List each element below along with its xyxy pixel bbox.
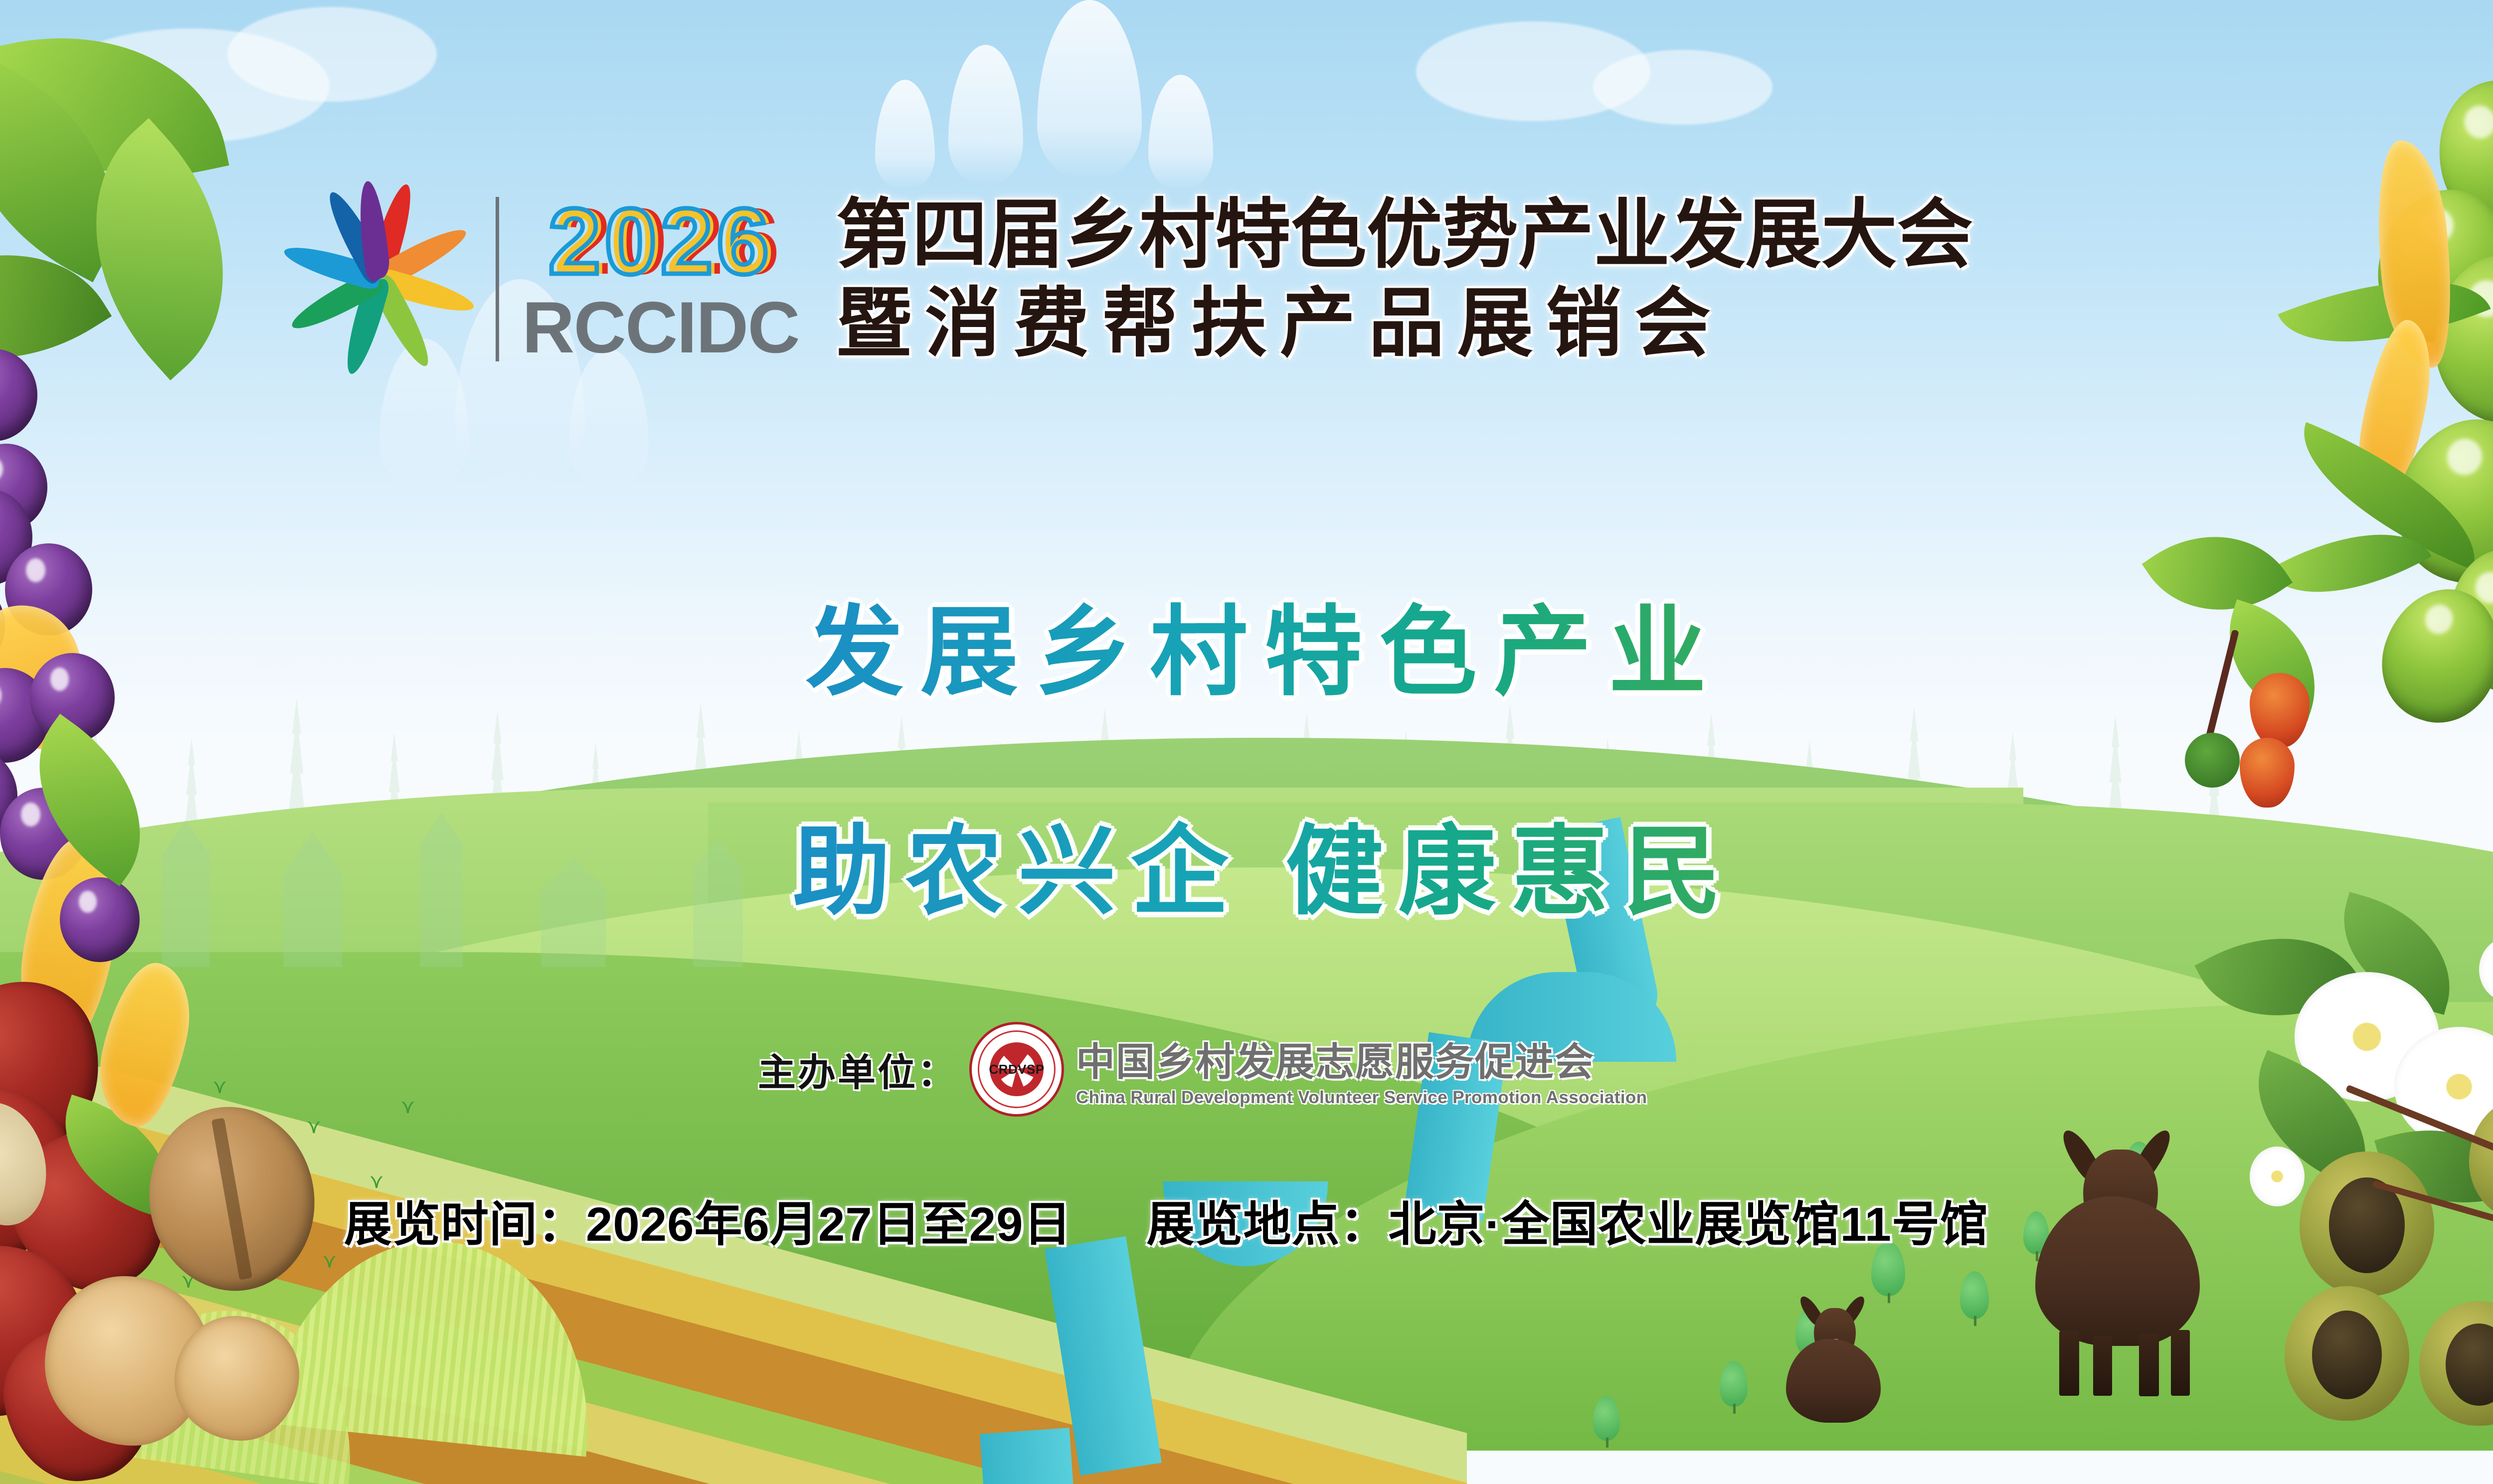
organizer-block: 主办单位： CRDVSP 中国乡村发展志愿服务促进会 China Rural D… xyxy=(758,1022,1647,1117)
title-line-1: 第四届乡村特色优势产业发展大会 xyxy=(836,194,1973,276)
walnut-icon xyxy=(135,1094,329,1304)
organizer-name-en: China Rural Development Volunteer Servic… xyxy=(1076,1088,1647,1108)
organizer-name-cn: 中国乡村发展志愿服务促进会 xyxy=(1076,1031,1647,1087)
oil-seed-pod-icon xyxy=(2300,1152,2434,1296)
banner-header: 2026 RCCIDC 第四届乡村特色优势产业发展大会 暨消费帮扶产品展销会 xyxy=(0,179,2493,379)
circular-red-seal-icon: CRDVSP xyxy=(969,1022,1064,1117)
organizer-names: 中国乡村发展志愿服务促进会 China Rural Development Vo… xyxy=(1076,1031,1647,1108)
seal-abbr-text: CRDVSP xyxy=(989,1062,1044,1077)
slogan-line-1: 发展乡村特色产业 xyxy=(0,573,2493,714)
yak-icon xyxy=(1783,1291,1898,1436)
oil-seed-pod-icon xyxy=(2285,1286,2409,1421)
title-line-2: 暨消费帮扶产品展销会 xyxy=(836,283,1973,364)
event-info: 展览时间：2026年6月27日至29日 展览地点：北京·全国农业展览馆11号馆 xyxy=(344,1185,1988,1255)
camellia-bud-icon xyxy=(2250,1147,2305,1206)
slogan-line-2: 助农兴企 健康惠民 xyxy=(0,793,2493,934)
jujube-walnut-decoration xyxy=(0,967,359,1484)
event-venue: 展览地点：北京·全国农业展览馆11号馆 xyxy=(1147,1185,1988,1255)
title-block: 第四届乡村特色优势产业发展大会 暨消费帮扶产品展销会 xyxy=(836,194,1973,364)
camellia-oil-seed-decoration xyxy=(2170,907,2493,1484)
slogan-line-1-text: 发展乡村特色产业 xyxy=(806,598,1723,707)
event-date: 展览时间：2026年6月27日至29日 xyxy=(344,1185,1072,1255)
slogan-line-2-text: 助农兴企 健康惠民 xyxy=(793,817,1736,926)
brand-abbr: RCCIDC xyxy=(522,291,799,364)
brand-lockup: 2026 RCCIDC xyxy=(522,194,799,364)
logo-divider xyxy=(496,197,499,361)
organizer-label: 主办单位： xyxy=(758,1042,957,1097)
camellia-bud-icon xyxy=(2479,937,2493,1002)
brand-year: 2026 xyxy=(548,194,773,288)
event-banner: ⋎ ⋎ ⋎ ⋎ ⋎ ⋎ ⋎ ⋎ ⋎ ⋎ xyxy=(0,0,2493,1484)
oil-seed-pod-icon xyxy=(2419,1301,2493,1426)
rainbow-pinwheel-icon xyxy=(279,179,479,379)
